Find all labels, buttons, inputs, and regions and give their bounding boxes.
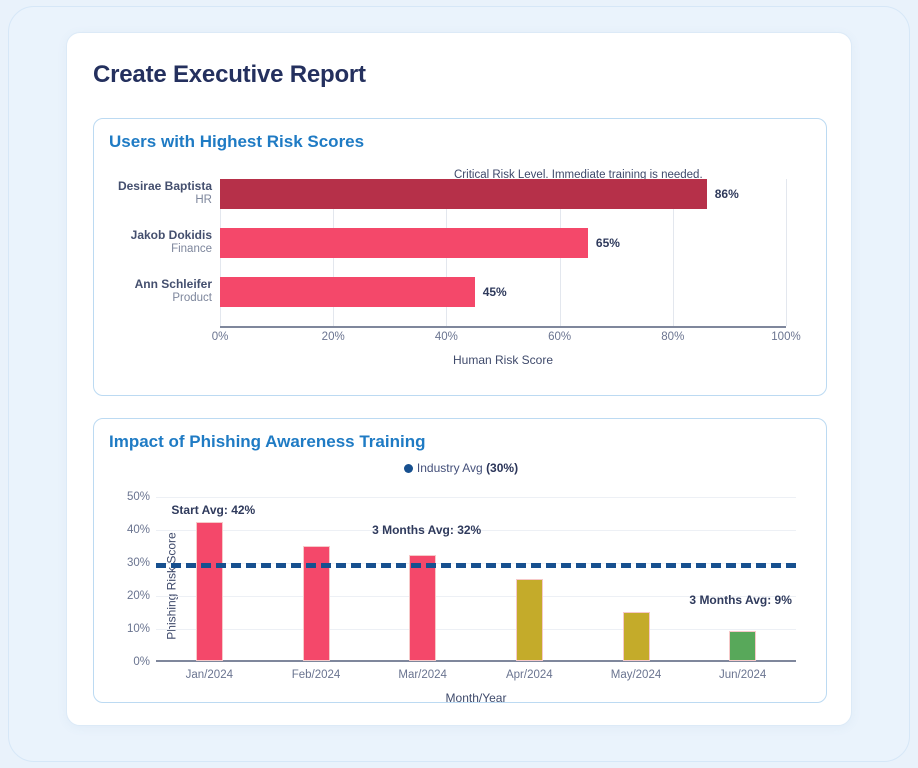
x-axis-tick-label: 0% <box>212 331 229 343</box>
y-axis-tick-label: 40% <box>127 524 150 536</box>
risk-bar[interactable] <box>220 277 475 307</box>
risk-bar[interactable] <box>220 179 707 209</box>
phishing-annotation: 3 Months Avg: 32% <box>372 523 481 537</box>
risk-user-name: Desirae Baptista <box>94 179 212 193</box>
risk-bar-row[interactable]: Desirae BaptistaHR86% <box>94 179 828 209</box>
x-axis-tick-label: 40% <box>435 331 458 343</box>
risk-user-label: Ann SchleiferProduct <box>94 277 212 305</box>
risk-user-department: HR <box>94 193 212 207</box>
y-axis-tick-label: 50% <box>127 491 150 503</box>
x-axis-line <box>156 660 796 662</box>
page-title: Create Executive Report <box>93 61 366 89</box>
industry-average-reference-line <box>156 563 796 568</box>
risk-user-label: Jakob DokidisFinance <box>94 228 212 256</box>
y-axis-tick-label: 10% <box>127 623 150 635</box>
x-axis-tick-label: Jun/2024 <box>719 669 766 681</box>
phishing-annotation: Start Avg: 42% <box>171 503 255 517</box>
phishing-bar[interactable] <box>623 612 650 662</box>
risk-bar-value: 86% <box>715 187 739 201</box>
x-axis-title: Human Risk Score <box>220 353 786 367</box>
x-axis-title: Month/Year <box>156 691 796 705</box>
risk-bar[interactable] <box>220 228 588 258</box>
gridline <box>156 629 796 630</box>
phishing-bar[interactable] <box>729 631 756 661</box>
x-axis-tick-label: May/2024 <box>611 669 662 681</box>
risk-scores-card: Users with Highest Risk Scores Critical … <box>93 118 827 396</box>
x-axis-tick-label: Apr/2024 <box>506 669 553 681</box>
gridline <box>156 497 796 498</box>
phishing-bar[interactable] <box>196 522 223 661</box>
risk-bar-value: 45% <box>483 285 507 299</box>
plot-area: Phishing Risk Score0%10%20%30%40%50% <box>156 497 796 662</box>
risk-user-department: Finance <box>94 242 212 256</box>
risk-user-label: Desirae BaptistaHR <box>94 179 212 207</box>
x-axis-tick-label: 20% <box>322 331 345 343</box>
phishing-annotation: 3 Months Avg: 9% <box>689 593 791 607</box>
phishing-impact-chart: Phishing Risk Score0%10%20%30%40%50%Star… <box>94 419 828 704</box>
risk-bar-value: 65% <box>596 236 620 250</box>
x-axis-tick-label: 60% <box>548 331 571 343</box>
x-axis-ticks: 0%20%40%60%80%100% <box>94 331 828 349</box>
y-axis-tick-label: 0% <box>133 656 150 668</box>
risk-user-name: Jakob Dokidis <box>94 228 212 242</box>
risk-scores-chart: Critical Risk Level. Immediate training … <box>94 119 828 397</box>
risk-bar-row[interactable]: Jakob DokidisFinance65% <box>94 228 828 258</box>
phishing-bar[interactable] <box>409 555 436 661</box>
y-axis-title: Phishing Risk Score <box>165 532 179 639</box>
report-page-card: Create Executive Report Users with Highe… <box>66 32 852 726</box>
risk-user-department: Product <box>94 291 212 305</box>
phishing-impact-card: Impact of Phishing Awareness Training In… <box>93 418 827 703</box>
x-axis-tick-label: Mar/2024 <box>398 669 447 681</box>
x-axis-tick-label: 100% <box>771 331 800 343</box>
y-axis-tick-label: 30% <box>127 557 150 569</box>
app-root: Create Executive Report Users with Highe… <box>0 0 918 768</box>
x-axis-line <box>220 326 786 328</box>
risk-user-name: Ann Schleifer <box>94 277 212 291</box>
y-axis-tick-label: 20% <box>127 590 150 602</box>
phishing-bar[interactable] <box>516 579 543 662</box>
x-axis-tick-label: Jan/2024 <box>186 669 233 681</box>
risk-bar-row[interactable]: Ann SchleiferProduct45% <box>94 277 828 307</box>
x-axis-tick-label: 80% <box>661 331 684 343</box>
x-axis-tick-label: Feb/2024 <box>292 669 341 681</box>
